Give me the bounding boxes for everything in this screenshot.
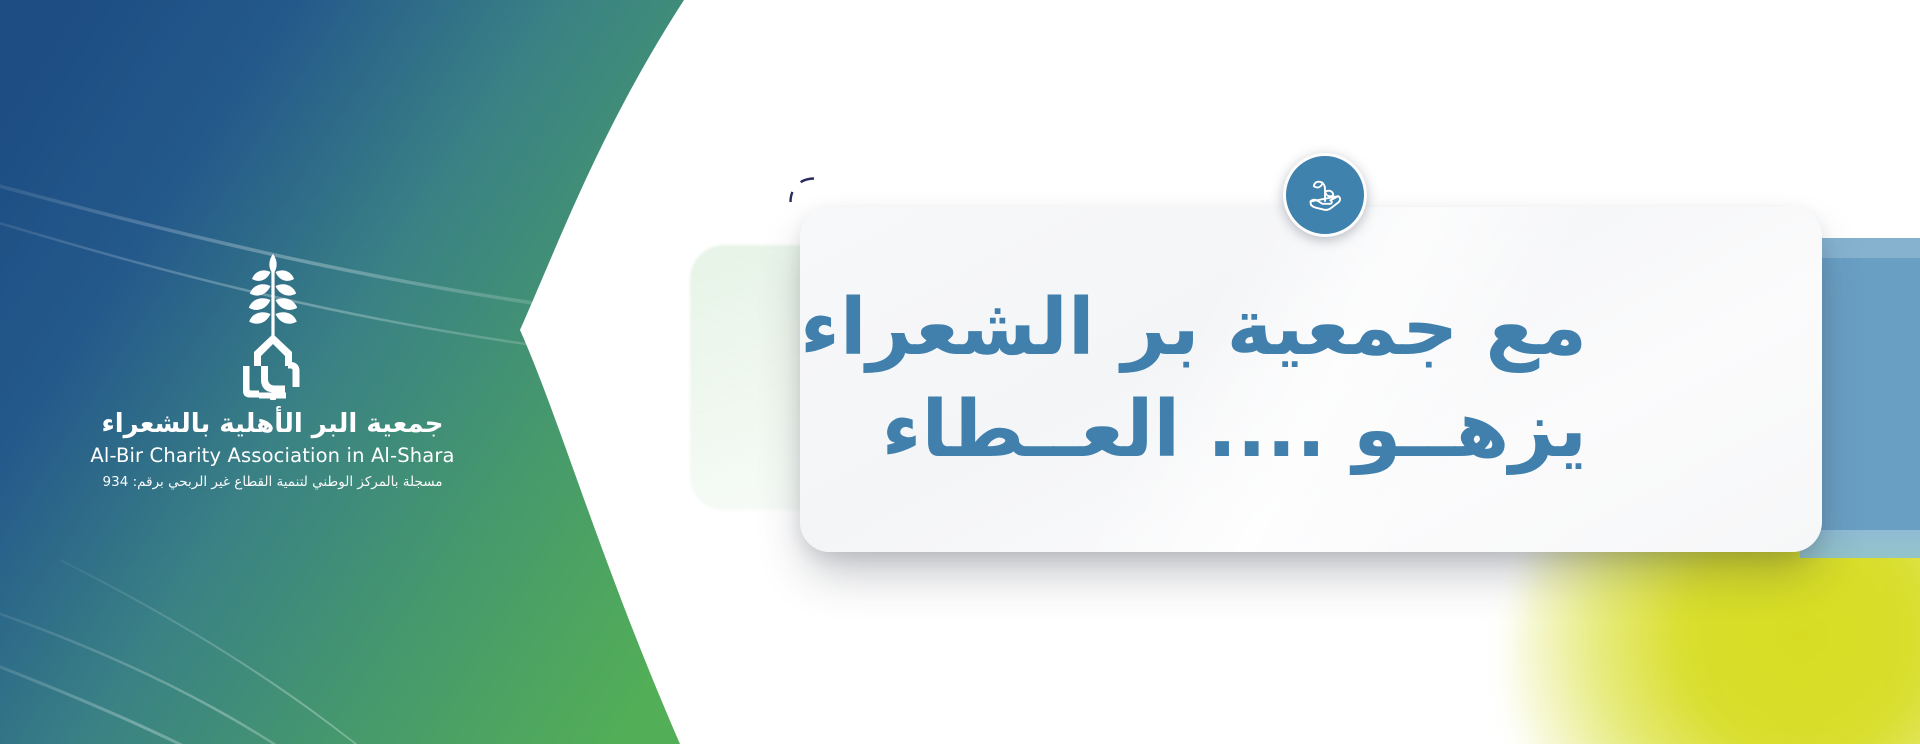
charity-banner: جمعية البر الأهلية بالشعراء Al-Bir Chari… xyxy=(0,0,1920,744)
organization-logo-lockup: جمعية البر الأهلية بالشعراء Al-Bir Chari… xyxy=(0,248,545,492)
hand-holding-sprout-icon xyxy=(1300,170,1350,220)
logo-name-arabic: جمعية البر الأهلية بالشعراء xyxy=(0,408,545,441)
logo-registration-line: مسجلة بالمركز الوطني لتنمية القطاع غير ا… xyxy=(0,473,545,492)
headline-card: مع جمعية بر الشعراء يزهــو .... العــطاء xyxy=(800,207,1822,552)
logo-name-english: Al-Bir Charity Association in Al-Shara xyxy=(0,442,545,469)
headline-block: مع جمعية بر الشعراء يزهــو .... العــطاء xyxy=(800,278,1587,481)
headline-line-2: يزهــو .... العــطاء xyxy=(800,380,1587,481)
hand-holding-sprout-badge xyxy=(1283,153,1367,237)
wheat-sheaf-and-arabic-calligraphy-logo-icon xyxy=(207,248,339,400)
headline-line-1: مع جمعية بر الشعراء xyxy=(800,278,1587,379)
